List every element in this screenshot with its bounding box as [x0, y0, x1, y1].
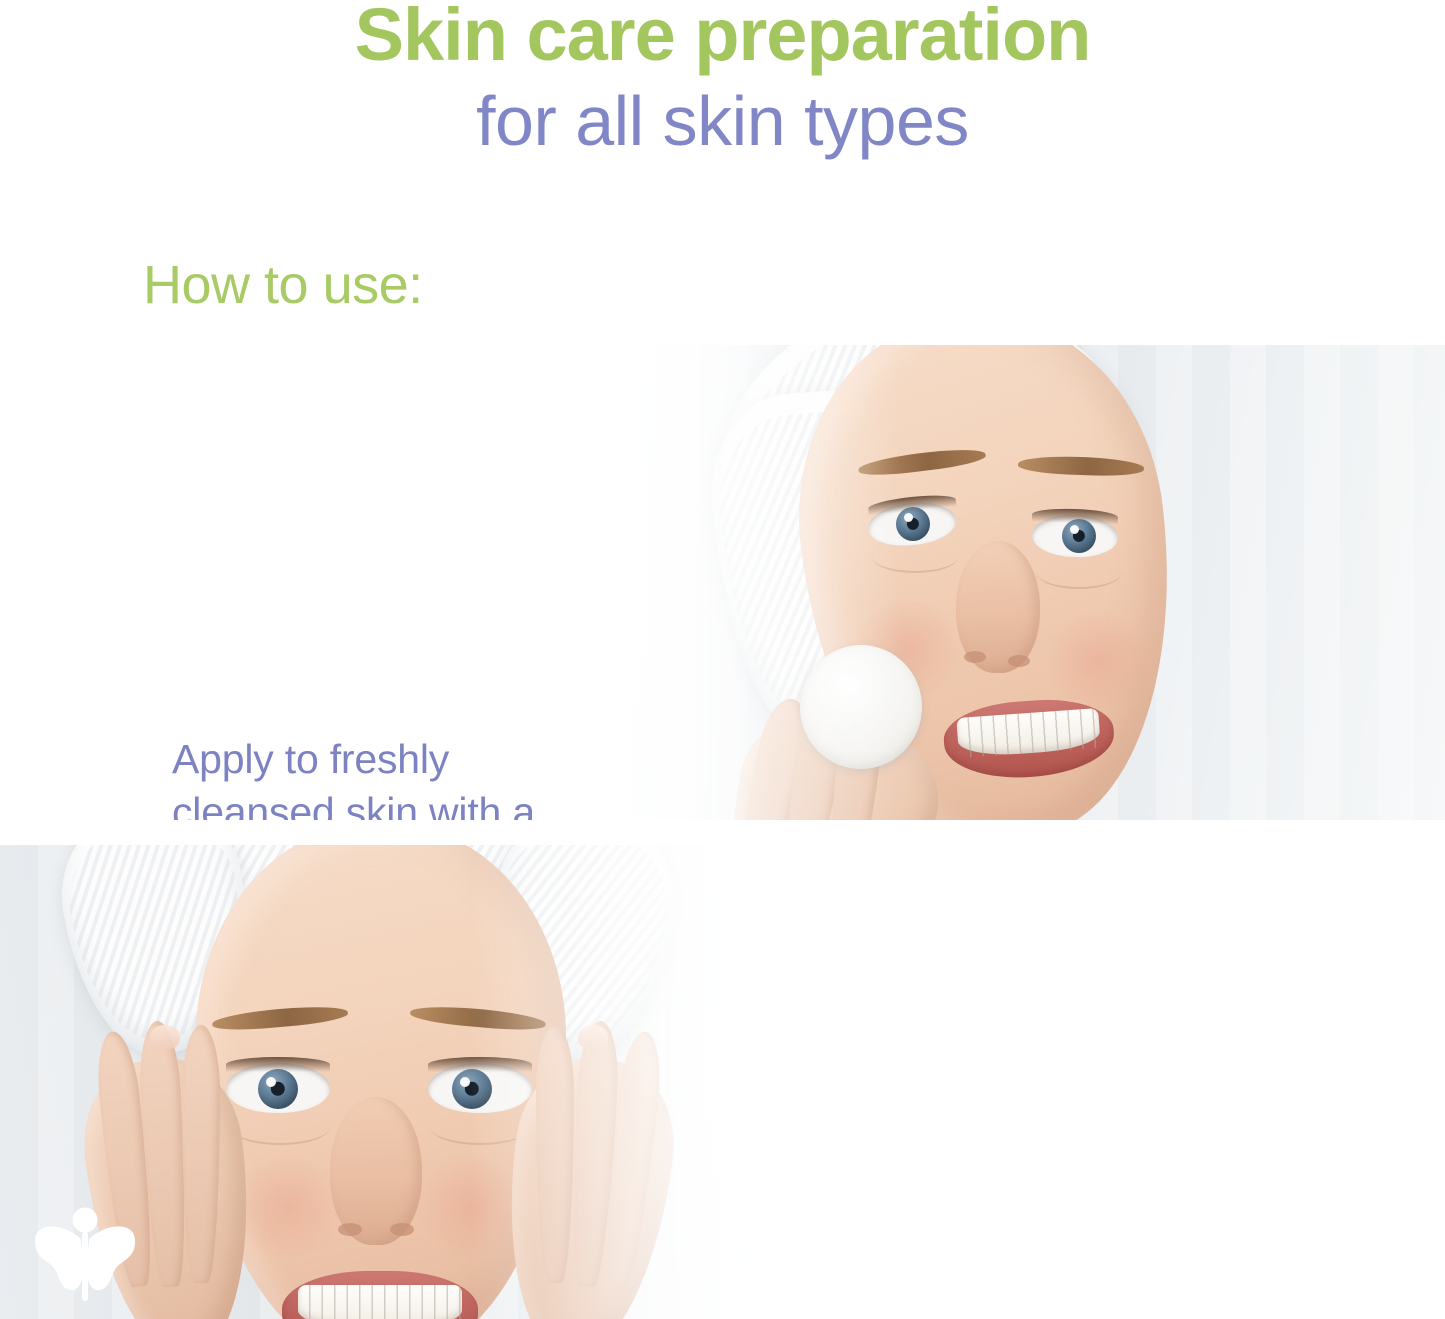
iris-left — [258, 1069, 298, 1109]
eyelid-left — [226, 1057, 330, 1072]
hand-left-fingernail — [150, 1025, 180, 1049]
photo-fade-left — [600, 345, 900, 820]
cheek-right — [1040, 613, 1158, 709]
photo-fade-right — [470, 845, 800, 1319]
eye-glint-left — [904, 513, 913, 522]
teeth — [298, 1285, 463, 1319]
nostril-right — [1008, 655, 1030, 667]
under-eye-crease-left — [230, 1109, 330, 1145]
eye-glint-right — [1070, 525, 1079, 534]
step-1-photo — [600, 345, 1445, 820]
under-eye-crease-right — [1036, 555, 1122, 589]
step-1-text: Apply to freshly cleansed skin with a co… — [172, 733, 622, 820]
how-to-use-heading: How to use: — [143, 258, 423, 312]
step-2-band: Allow the product to dry without the nee… — [0, 845, 1445, 1319]
page-title-line1: Skin care preparation — [0, 0, 1445, 72]
butterfly-leaf-logo — [32, 1206, 138, 1302]
page-title-line2: for all skin types — [0, 86, 1445, 156]
eye-glint-right — [460, 1077, 470, 1087]
hand-left-finger-3 — [182, 1025, 220, 1283]
infographic-page: Skin care preparation for all skin types… — [0, 0, 1445, 1319]
teeth — [956, 708, 1101, 757]
eye-glint-left — [266, 1077, 276, 1087]
nostril-right — [390, 1223, 414, 1236]
step-1-band: STEP 1 Apply to freshly cleansed skin wi… — [0, 345, 1445, 820]
header: Skin care preparation for all skin types… — [0, 0, 1445, 345]
iris-right — [1062, 519, 1096, 553]
